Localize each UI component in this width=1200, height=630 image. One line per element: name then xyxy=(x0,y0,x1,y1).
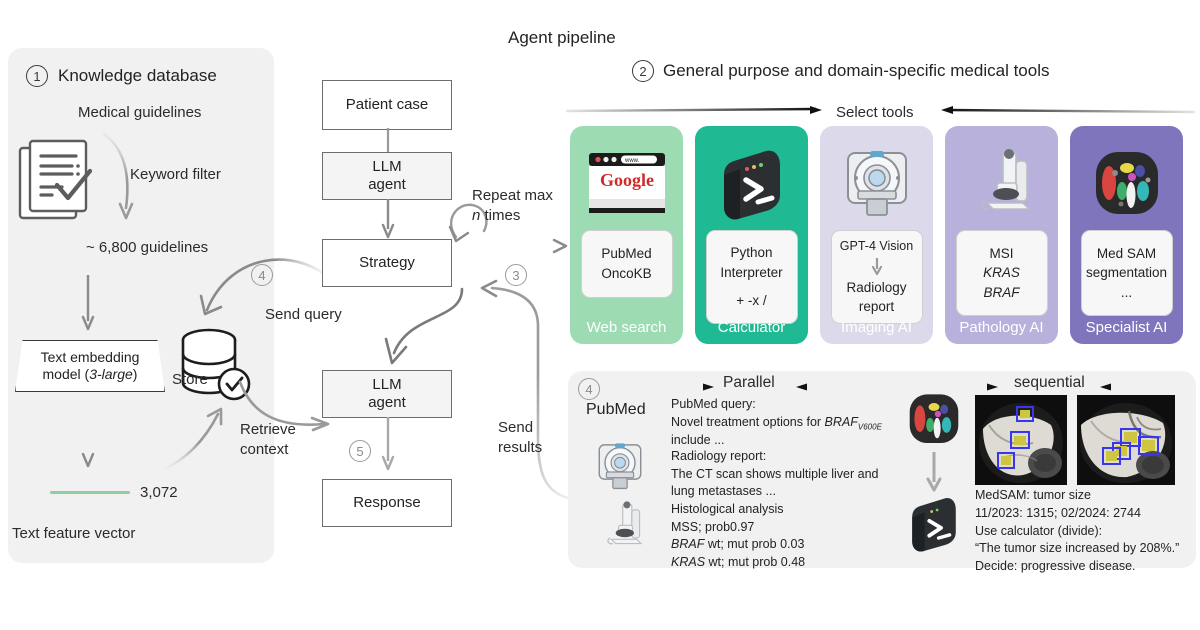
specialist-ai-line-1: Med SAM xyxy=(1097,244,1156,264)
llm-agent-2-line-2: agent xyxy=(368,394,406,412)
guidelines-to-embedding-arrow xyxy=(80,275,96,335)
embedding-line-1: Text embedding xyxy=(41,349,140,367)
send-results-label: Send results xyxy=(498,418,542,457)
node-patient-case[interactable]: Patient case xyxy=(322,80,452,130)
tool-caption-web-search: Web search xyxy=(570,319,683,336)
repeat-line-2: n times xyxy=(472,206,553,226)
radiology-report-line-2: lung metastases ... xyxy=(671,483,879,501)
step-1-badge: 1 xyxy=(26,65,48,87)
knowledge-database-title: Knowledge database xyxy=(58,66,217,86)
terminal-icon xyxy=(716,138,788,230)
medical-guidelines-label: Medical guidelines xyxy=(78,104,201,121)
keyword-filter-label: Keyword filter xyxy=(130,166,221,183)
llm-agent-1-line-1: LLM xyxy=(372,158,401,176)
segmentation-scan-icon xyxy=(1090,138,1164,230)
tool-card-imaging-ai[interactable]: GPT-4 Vision Radiology report Imaging AI xyxy=(820,126,933,344)
sequential-line-3: Use calculator (divide): xyxy=(975,523,1179,541)
specialist-ai-inner-box: Med SAM segmentation ... xyxy=(1081,230,1173,316)
node-response[interactable]: Response xyxy=(322,479,452,527)
select-tools-right-rule xyxy=(935,105,1195,115)
repeat-max-label: Repeat max n times xyxy=(472,186,553,225)
microscope-icon xyxy=(965,138,1039,230)
imaging-ai-line-3: report xyxy=(859,297,894,317)
sequential-right-rule xyxy=(1097,382,1192,392)
send-results-arrow xyxy=(448,286,588,511)
vector-dimension-label: 3,072 xyxy=(140,484,178,501)
sequential-text-block: MedSAM: tumor size 11/2023: 1315; 02/202… xyxy=(975,487,1179,576)
embedding-model-variant: 3-large xyxy=(89,366,133,382)
document-check-icon xyxy=(14,138,100,230)
histology-line-2: BRAF wt; mut prob 0.03 xyxy=(671,536,805,554)
imaging-ai-down-arrow-icon xyxy=(870,257,884,277)
radiology-report-heading: Radiology report: xyxy=(671,448,879,466)
tools-title: General purpose and domain-specific medi… xyxy=(663,61,1049,81)
llm-agent-1-line-2: agent xyxy=(368,176,406,194)
histology-block: Histological analysis MSS; prob0.97 BRAF… xyxy=(671,501,805,571)
radiology-report-line-1: The CT scan shows multiple liver and xyxy=(671,466,879,484)
node-llm-agent-1[interactable]: LLM agent xyxy=(322,152,452,200)
step-4-badge-execution: 4 xyxy=(578,378,600,400)
llm2-to-response-arrow xyxy=(380,417,396,475)
retrieve-context-label: Retrieve context xyxy=(240,420,296,459)
braf-gene-name: BRAF xyxy=(825,415,858,429)
pubmed-query-block: PubMed query: Novel treatment options fo… xyxy=(671,396,882,450)
store-arrow xyxy=(164,406,230,470)
specialist-ai-line-2: segmentation xyxy=(1086,263,1167,283)
tool-card-pathology-ai[interactable]: MSI KRAS BRAF Pathology AI xyxy=(945,126,1058,344)
ct-scanner-icon xyxy=(840,138,914,230)
agent-pipeline-title: Agent pipeline xyxy=(508,28,616,48)
tool-caption-pathology-ai: Pathology AI xyxy=(945,319,1058,336)
strategy-to-tools-arrow xyxy=(452,235,570,257)
sequential-terminal-icon xyxy=(906,495,962,553)
embedding-line-2: model (3-large) xyxy=(43,366,138,384)
sequential-down-arrow-icon xyxy=(925,452,943,494)
ct-scan-02-2024 xyxy=(1077,395,1175,485)
pathology-ai-line-2: KRAS xyxy=(983,263,1020,283)
calculator-inner-box: Python Interpreter + -x / xyxy=(706,230,798,324)
embedding-to-vector-arrow xyxy=(80,400,96,472)
send-results-line-1: Send xyxy=(498,418,542,438)
node-strategy[interactable]: Strategy xyxy=(322,239,452,287)
histology-heading: Histological analysis xyxy=(671,501,805,519)
braf-variant-subscript: V600E xyxy=(858,422,882,431)
histology-line-3: KRAS wt; mut prob 0.48 xyxy=(671,554,805,572)
web-search-inner-box: PubMed OncoKB xyxy=(581,230,673,298)
radiology-report-block: Radiology report: The CT scan shows mult… xyxy=(671,448,879,501)
sequential-line-4: “The tumor size increased by 208%.” xyxy=(975,540,1179,558)
select-tools-label: Select tools xyxy=(836,104,914,121)
tools-header: 2 General purpose and domain-specific me… xyxy=(632,60,1049,82)
sequential-left-rule xyxy=(888,382,1000,392)
pubmed-query-body-1: Novel treatment options for BRAFV600E xyxy=(671,414,882,433)
knowledge-database-header: 1 Knowledge database xyxy=(26,65,217,87)
retrieve-context-line-1: Retrieve xyxy=(240,420,296,440)
tool-caption-calculator: Calculator xyxy=(695,319,808,336)
calculator-line-1: Python xyxy=(730,243,772,263)
pathology-ai-line-3: BRAF xyxy=(983,283,1019,303)
tool-card-specialist-ai[interactable]: Med SAM segmentation ... Specialist AI xyxy=(1070,126,1183,344)
step-5-badge: 5 xyxy=(349,440,371,462)
store-label: Store xyxy=(172,371,208,388)
step-3-badge: 3 xyxy=(505,264,527,286)
parallel-left-rule xyxy=(604,382,716,392)
histology-line-1: MSS; prob0.97 xyxy=(671,519,805,537)
llm-to-strategy-arrow xyxy=(380,199,396,241)
imaging-ai-line-1: GPT-4 Vision xyxy=(840,237,913,255)
calculator-line-3: + -x / xyxy=(736,291,766,311)
pathology-ai-inner-box: MSI KRAS BRAF xyxy=(956,230,1048,316)
tool-card-web-search[interactable]: www. Google PubMed OncoKB Web search xyxy=(570,126,683,344)
imaging-ai-line-2: Radiology xyxy=(846,278,906,298)
parallel-right-rule xyxy=(793,382,883,392)
sequential-label: sequential xyxy=(1014,374,1085,392)
web-search-line-1: PubMed xyxy=(601,244,651,264)
text-feature-vector-row: 3,072 xyxy=(50,484,178,501)
step-2-badge: 2 xyxy=(632,60,654,82)
parallel-label: Parallel xyxy=(723,374,775,392)
web-search-line-2: OncoKB xyxy=(601,264,651,284)
text-feature-vector-caption: Text feature vector xyxy=(12,525,135,542)
tool-caption-specialist-ai: Specialist AI xyxy=(1070,319,1183,336)
sequential-segmentation-scan-icon xyxy=(905,392,963,447)
node-llm-agent-2[interactable]: LLM agent xyxy=(322,370,452,418)
browser-google-icon: www. Google xyxy=(587,138,667,230)
svg-text:www.: www. xyxy=(624,158,640,164)
radiology-ct-scanner-icon xyxy=(592,442,648,492)
specialist-ai-line-3: ... xyxy=(1121,283,1132,303)
sequential-line-1: MedSAM: tumor size xyxy=(975,487,1179,505)
tool-caption-imaging-ai: Imaging AI xyxy=(820,319,933,336)
tool-cards-row: www. Google PubMed OncoKB Web search xyxy=(570,126,1183,344)
llm-agent-2-line-1: LLM xyxy=(372,376,401,394)
retrieve-context-line-2: context xyxy=(240,440,296,460)
calculator-line-2: Interpreter xyxy=(720,263,782,283)
select-tools-left-rule xyxy=(566,105,826,115)
vector-bar xyxy=(50,491,130,494)
send-results-line-2: results xyxy=(498,438,542,458)
ct-scan-11-2023 xyxy=(975,395,1067,485)
tool-card-calculator[interactable]: Python Interpreter + -x / Calculator xyxy=(695,126,808,344)
pathology-ai-line-1: MSI xyxy=(989,244,1013,264)
imaging-ai-inner-box: GPT-4 Vision Radiology report xyxy=(831,230,923,324)
sequential-line-5: Decide: progressive disease. xyxy=(975,558,1179,576)
patient-case-to-llm-arrow xyxy=(380,128,396,152)
send-query-label: Send query xyxy=(265,306,342,323)
pubmed-wordmark: PubMed xyxy=(586,401,646,419)
text-embedding-model-node: Text embedding model (3-large) xyxy=(15,340,165,392)
repeat-line-1: Repeat max xyxy=(472,186,553,206)
sequential-line-2: 11/2023: 1315; 02/2024: 2744 xyxy=(975,505,1179,523)
svg-text:Google: Google xyxy=(600,170,654,190)
step-4-badge-left: 4 xyxy=(251,264,273,286)
histology-microscope-icon xyxy=(596,500,648,552)
pubmed-query-heading: PubMed query: xyxy=(671,396,882,414)
